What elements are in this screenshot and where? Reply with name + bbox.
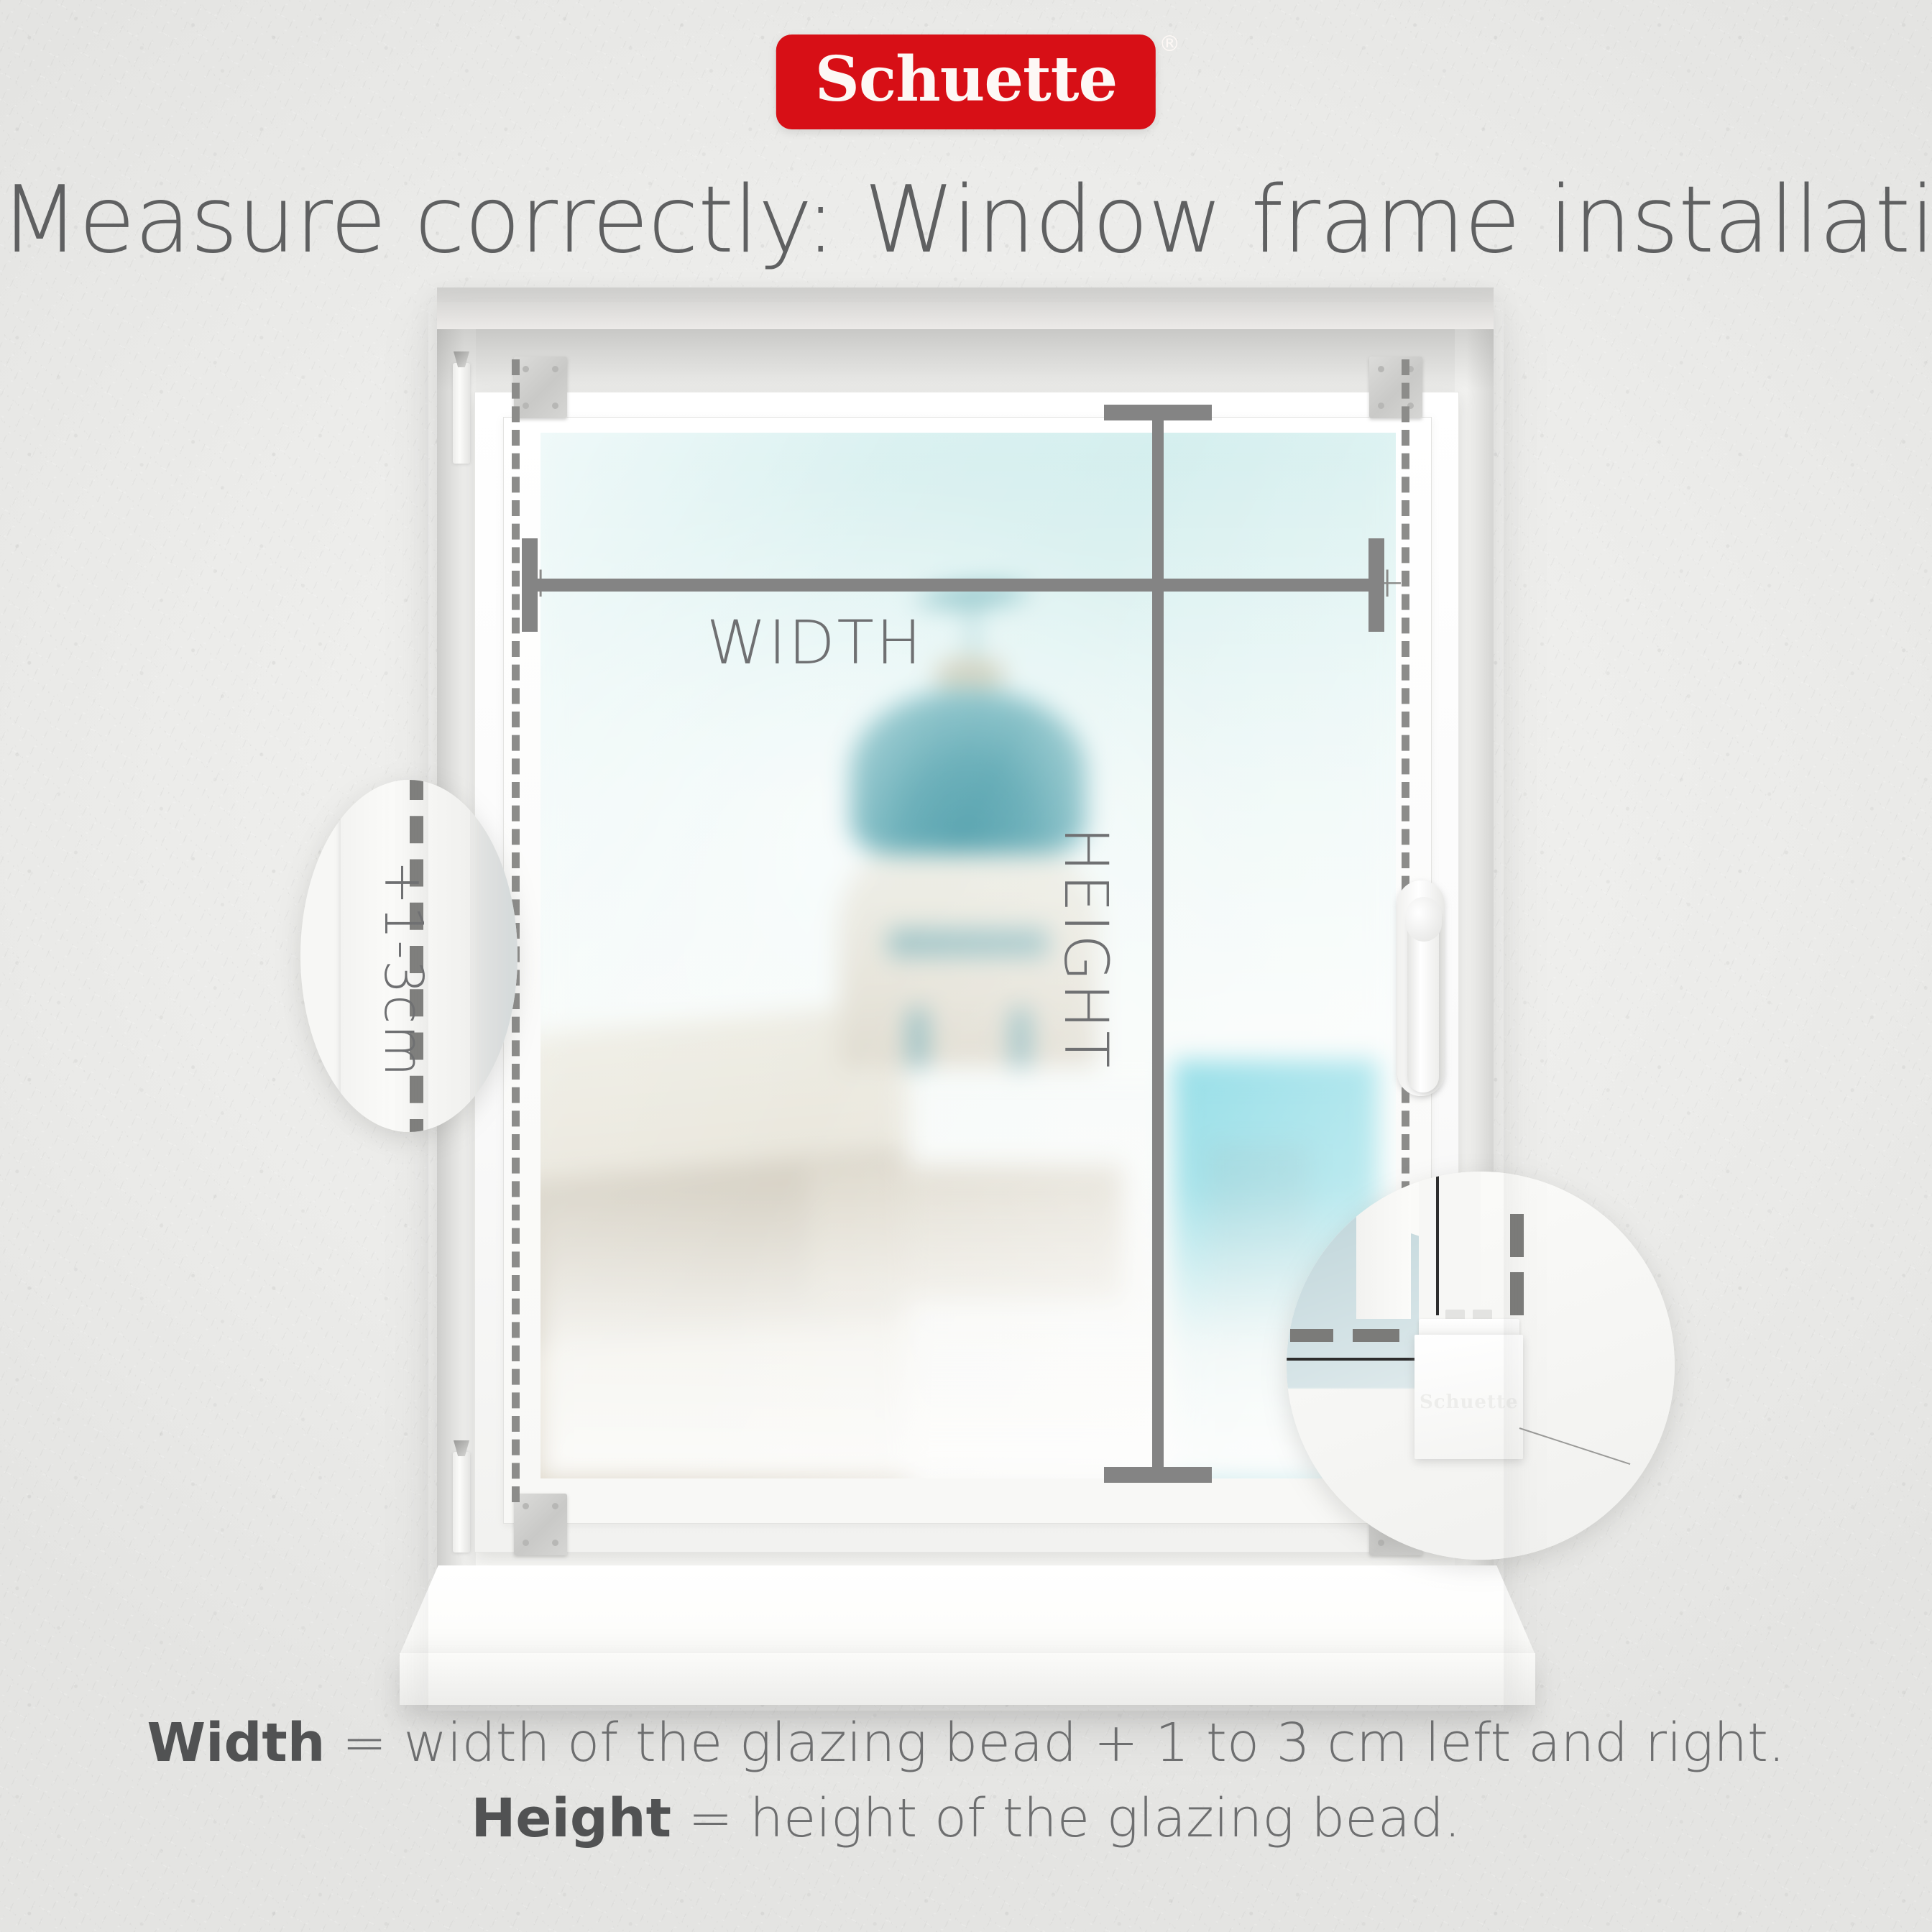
registered-trademark-icon: ®: [1159, 32, 1180, 57]
width-dimension-line: [522, 579, 1384, 592]
brand-logo: Schuette®: [776, 34, 1156, 129]
cassette-brand-embossed: Schuette: [1414, 1391, 1523, 1413]
window-diagram: + + WIDTH HEIGHT +1-3cm: [0, 0, 1932, 1932]
tolerance-label: +1-3cm: [372, 860, 434, 1077]
page-title: Measure correctly: Window frame installa…: [0, 167, 1932, 274]
magnifier-tolerance-content: +1-3cm: [300, 780, 517, 1132]
caption-block: Width = width of the glazing bead + 1 to…: [0, 1706, 1932, 1857]
window-handle-knob: [1406, 897, 1442, 942]
magnifier-blind-cassette: Schuette: [1414, 1335, 1523, 1459]
magnifier-tolerance: +1-3cm: [300, 780, 517, 1132]
caption-line-width: Width = width of the glazing bead + 1 to…: [0, 1706, 1932, 1781]
magnifier-edge-line: [1436, 1175, 1439, 1315]
caption-height-term: Height: [471, 1788, 671, 1849]
magnifier-dash-1: [1510, 1214, 1524, 1256]
height-label: HEIGHT: [1051, 827, 1121, 1070]
caption-width-term: Width: [147, 1712, 325, 1774]
magnifier-glazing-dash-1: [1290, 1329, 1333, 1342]
window-hinge-bottom: [453, 1452, 470, 1552]
magnifier-bracket-detail: Schuette: [1287, 1172, 1675, 1560]
mounting-bracket-bottom-left: [514, 1494, 567, 1555]
window-sill-front: [400, 1653, 1535, 1705]
caption-height-definition: = height of the glazing bead.: [671, 1788, 1461, 1849]
caption-width-definition: = width of the glazing bead + 1 to 3 cm …: [325, 1712, 1785, 1774]
magnifier-sill-line: [1287, 1358, 1426, 1361]
window-sill-top: [400, 1565, 1535, 1655]
caption-line-height: Height = height of the glazing bead.: [0, 1781, 1932, 1857]
window-reveal-shadow: [437, 329, 1494, 391]
mounting-bracket-top-right: [1369, 356, 1422, 418]
brand-name: Schuette: [815, 49, 1117, 111]
mounting-bracket-top-left: [514, 356, 567, 418]
magnifier-dash-2: [1510, 1272, 1524, 1315]
magnifier-blurred-frame: [470, 780, 517, 1132]
window-reveal-top: [437, 287, 1494, 329]
height-dimension-line: [1152, 410, 1164, 1478]
magnifier-frame-strip: [1356, 1172, 1411, 1319]
magnifier-glazing-dash-2: [1353, 1329, 1399, 1342]
window-hinge-top: [453, 363, 470, 464]
